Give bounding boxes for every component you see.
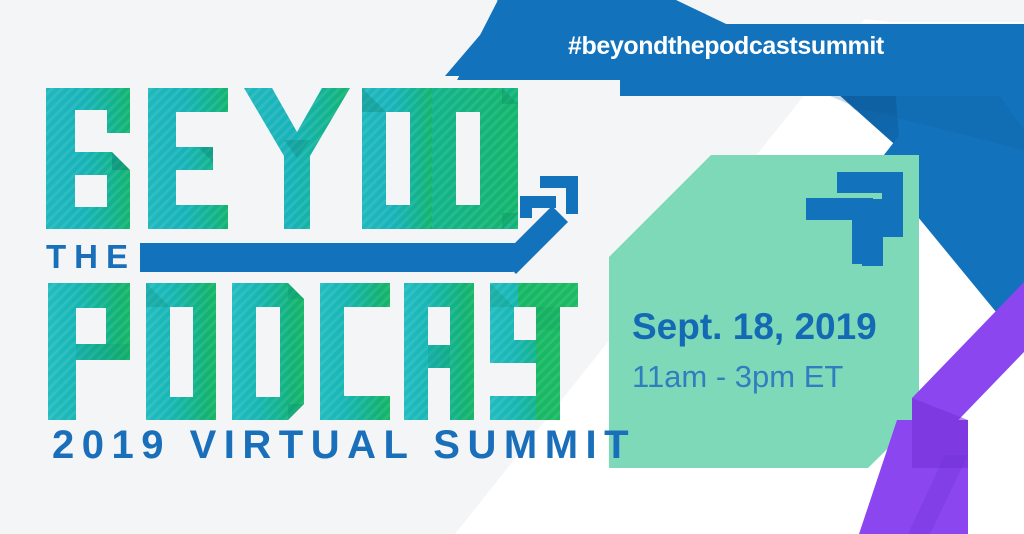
hashtag-text: #beyondthepodcastsummit: [568, 34, 898, 59]
event-time: 11am - 3pm ET: [632, 361, 843, 392]
event-date: Sept. 18, 2019: [632, 308, 877, 345]
summit-tagline: 2019 VIRTUAL SUMMIT: [52, 425, 636, 465]
summit-banner: #beyondthepodcastsummit Sept. 18, 2019 1…: [0, 0, 1024, 534]
